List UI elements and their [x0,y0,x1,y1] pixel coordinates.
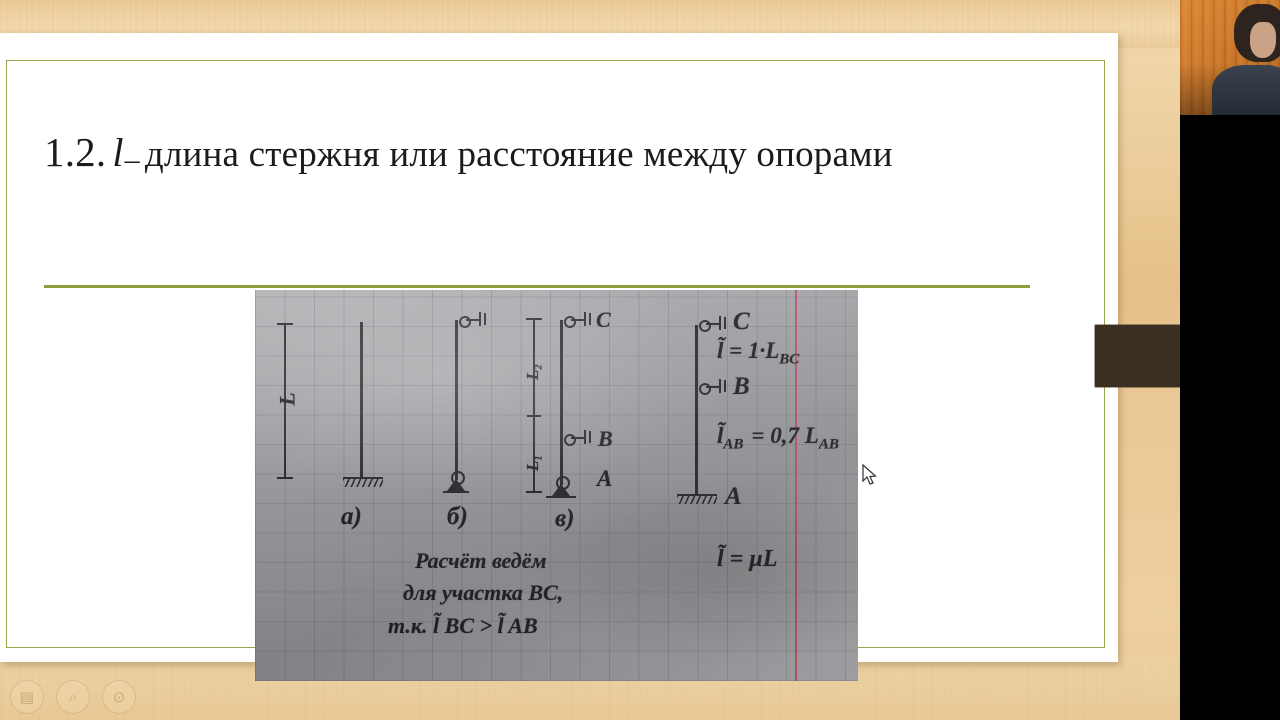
caption-a: а) [341,503,362,531]
dark-overlay-bar [1095,325,1180,387]
dim-label-a: L [275,392,301,405]
roller-support-v-top [564,316,576,328]
presenter-options-icon[interactable]: ⊙ [102,680,136,714]
note-line-2: для участка BC, [403,580,563,606]
roller-plate-v-mid2 [589,431,591,443]
dim-arrow-b-top [526,318,542,320]
node-label-ref-c: C [733,308,750,336]
column-v [560,320,563,485]
dim-arrow-a-bottom [277,477,293,479]
formula-lbc-main: l̃ = 1·L [717,338,779,363]
formula-lbc: l̃ = 1·LBC [717,338,799,369]
pin-base-v [546,496,576,498]
pin-triangle-b [447,479,465,491]
node-label-ref-b: B [733,373,750,401]
roller-plate-ref-b [719,379,721,393]
caption-v: в) [555,505,575,533]
formula-lab: l̃AB= 0,7 LAB [717,423,839,454]
roller-support-v-mid [564,434,576,446]
roller-plate-ref-b2 [724,380,726,392]
roller-support-ref-b [699,383,711,395]
node-label-v-a: A [597,466,612,492]
formula-lab-sub2: AB [819,437,839,453]
fixed-support-a [343,478,383,487]
formula-lab-main2: = 0,7 L [743,423,818,448]
fixed-support-ref-line [677,494,717,496]
note-line-3: т.к. l̃ BC > l̃ AB [388,613,538,639]
presenter-options-glyph: ⊙ [113,688,126,706]
dim-label-b-l2: L₂ [523,364,543,380]
presentation-controls[interactable]: ▤ ⌕ ⊙ [10,680,136,714]
slide-menu-glyph: ▤ [20,688,34,706]
node-label-ref-a: A [725,483,742,511]
note-line-1: Расчёт ведём [415,548,547,574]
dim-arrow-a-top [277,323,293,325]
roller-link-v-mid [571,437,585,439]
screen: 1.2.l–длина стержня или расстояние между… [0,0,1280,720]
formula-lab-sub: AB [723,437,743,453]
roller-link-ref-b [706,386,720,388]
right-panel [1180,0,1280,720]
dim-arrow-b-mid [527,415,541,417]
column-b [455,320,458,480]
roller-link-b [466,319,480,321]
roller-plate-b2 [484,313,486,325]
node-label-v-c: C [596,307,611,333]
presentation-slide[interactable]: 1.2.l–длина стержня или расстояние между… [0,33,1118,662]
column-ref [695,325,698,495]
magnifier-glyph: ⌕ [69,689,77,706]
pin-base-b [443,491,469,493]
mouse-pointer [862,464,878,486]
dim-label-b-l1: L₁ [523,455,543,471]
roller-plate-v-top [584,312,586,326]
roller-plate-v-mid [584,430,586,444]
title-symbol: l [106,130,124,175]
pin-triangle-v [552,484,570,496]
roller-plate-b [479,312,481,326]
fixed-support-ref [677,495,717,504]
node-label-v-b: B [598,426,613,452]
roller-plate-v-top2 [589,313,591,325]
page-title: 1.2.l–длина стержня или расстояние между… [44,121,1044,188]
fixed-support-a-line [343,477,383,479]
roller-plate-ref-c2 [724,317,726,329]
title-divider [44,285,1030,288]
title-number: 1.2. [44,129,106,175]
formula-mu-l: l̃ = μL [717,546,777,573]
webcam-thumbnail[interactable] [1180,0,1280,115]
roller-link-v-top [571,319,585,321]
roller-plate-ref-c [719,316,721,330]
title-text: длина стержня или расстояние между опора… [145,134,893,175]
roller-link-ref-c [706,323,720,325]
title-dash: – [125,143,145,176]
formula-lbc-sub: BC [779,352,799,368]
caption-b: б) [447,503,468,531]
webcam-vignette [1180,0,1280,115]
dim-arrow-b-bottom [526,491,542,493]
roller-support-ref-c [699,320,711,332]
roller-support-b [459,316,471,328]
handwritten-notes-photograph[interactable]: L а) б) L₂ L₁ [255,290,858,681]
title-block: 1.2.l–длина стержня или расстояние между… [44,121,1044,201]
slide-menu-icon[interactable]: ▤ [10,680,44,714]
column-a [360,322,363,479]
magnifier-icon[interactable]: ⌕ [56,680,90,714]
